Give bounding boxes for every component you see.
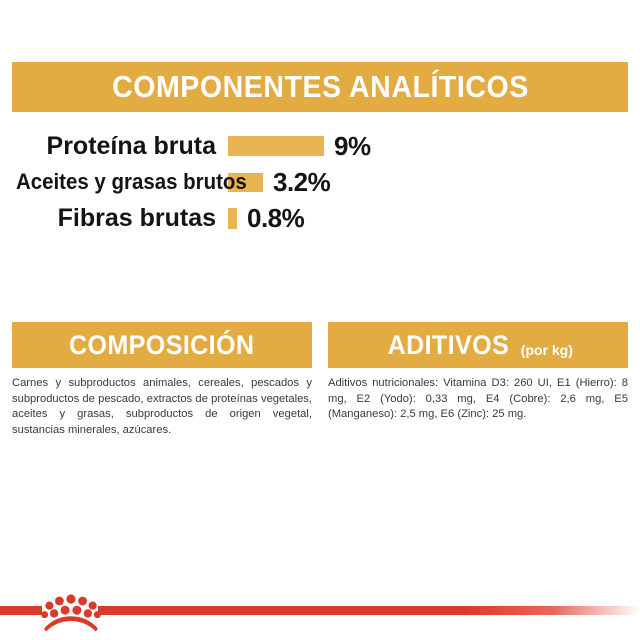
chart-row-value: 9% <box>324 131 371 162</box>
chart-row-label: Proteína bruta <box>0 132 228 161</box>
section-body: Aditivos nutricionales: Vitamina D3: 260… <box>328 376 628 423</box>
section-aditivos: ADITIVOS (por kg) Aditivos nutricionales… <box>320 322 640 438</box>
chart-row-value: 0.8% <box>237 203 304 234</box>
section-title: ADITIVOS <box>388 330 510 361</box>
chart-row-label: Fibras brutas <box>0 204 228 233</box>
page-title: COMPONENTES ANALÍTICOS <box>112 69 529 105</box>
chart-row: Fibras brutas 0.8% <box>0 200 640 236</box>
section-title: COMPOSICIÓN <box>69 330 254 361</box>
chart-row: Proteína bruta 9% <box>0 128 640 164</box>
section-header: ADITIVOS (por kg) <box>328 322 628 368</box>
brand-stripe-left <box>0 606 42 615</box>
section-body: Carnes y subproductos animales, cereales… <box>12 376 312 438</box>
brand-footer <box>0 596 640 640</box>
chart-row: Aceites y grasas brutos 3.2% <box>0 164 640 200</box>
brand-stripe-right <box>98 606 640 615</box>
chart-bar-track <box>228 128 324 164</box>
analytical-components-banner: COMPONENTES ANALÍTICOS <box>12 62 628 112</box>
royal-canin-crown-icon <box>40 590 102 638</box>
section-subtitle: (por kg) <box>521 342 573 358</box>
nutrition-panel: COMPONENTES ANALÍTICOS Proteína bruta 9%… <box>0 0 640 640</box>
chart-bar <box>228 136 324 156</box>
section-header: COMPOSICIÓN <box>12 322 312 368</box>
chart-bar <box>228 208 237 229</box>
analytical-components-chart: Proteína bruta 9% Aceites y grasas bruto… <box>0 128 640 236</box>
section-composicion: COMPOSICIÓN Carnes y subproductos animal… <box>0 322 320 438</box>
chart-row-label: Aceites y grasas brutos <box>16 169 228 195</box>
info-sections: COMPOSICIÓN Carnes y subproductos animal… <box>0 322 640 438</box>
chart-row-value: 3.2% <box>263 167 330 198</box>
chart-bar-track <box>228 200 237 236</box>
